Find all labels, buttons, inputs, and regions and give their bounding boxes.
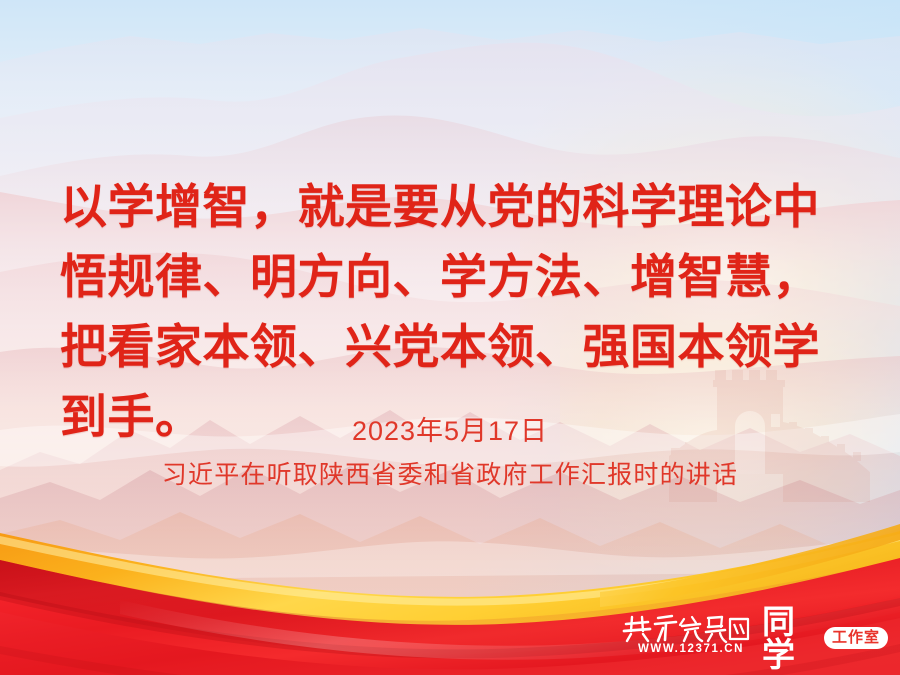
speech-date: 2023年5月17日 [0,414,900,448]
studio-label-pill: 工作室 [824,627,888,649]
studio-logo[interactable]: 同学 工作室 [762,616,888,660]
headline-quote: 以学增智，就是要从党的科学理论中悟规律、明方向、学方法、增智慧，把看家本领、兴党… [60,172,850,452]
footer-logos: WWW.12371.CN 同学 工作室 [622,612,890,664]
poster-canvas: 以学增智，就是要从党的科学理论中悟规律、明方向、学方法、增智慧，把看家本领、兴党… [0,0,900,675]
studio-name: 同学 [762,605,821,671]
cpc-logo-calligraphy [622,614,750,644]
speech-source: 习近平在听取陕西省委和省政府工作汇报时的讲话 [0,458,900,492]
cpc-website-url: WWW.12371.CN [632,643,750,655]
cpc-member-network-logo[interactable]: WWW.12371.CN [622,614,750,662]
